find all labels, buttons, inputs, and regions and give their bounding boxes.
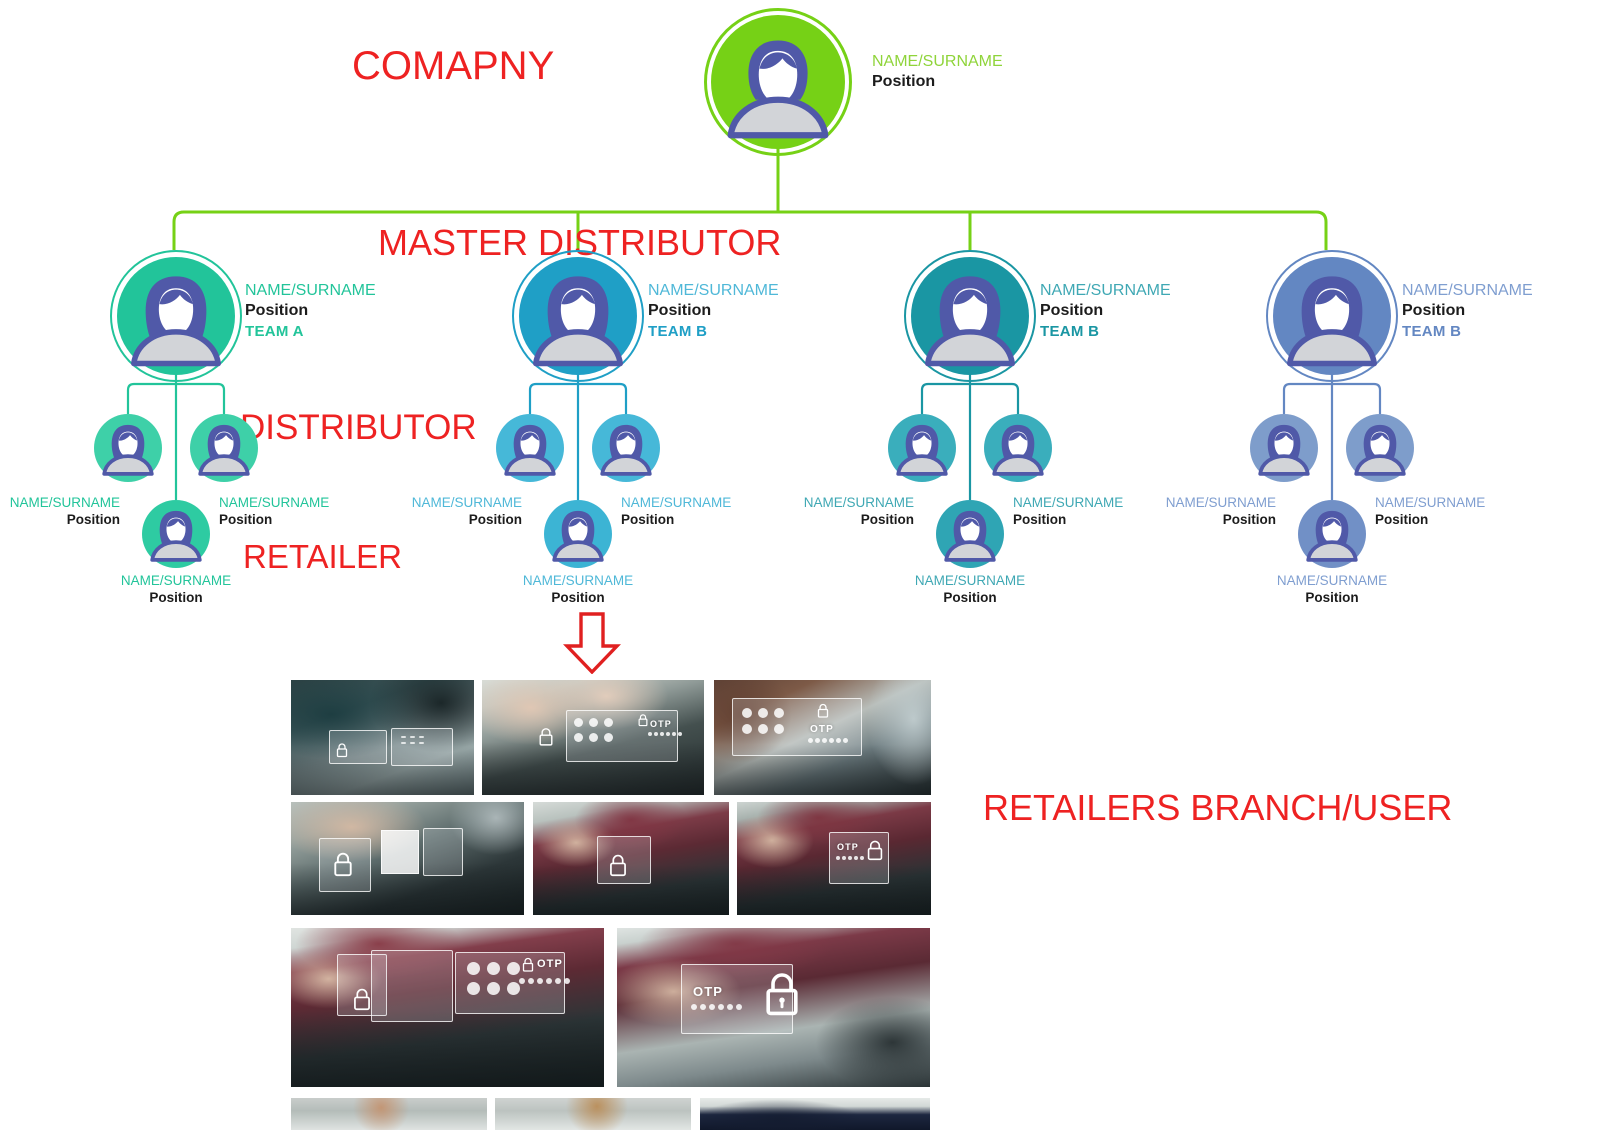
- photo-7-otp-text: OTP: [537, 958, 563, 970]
- lock-icon: [351, 986, 373, 1012]
- distributor-4-1-name: NAME/SURNAME: [1046, 494, 1276, 511]
- distributor-4-1-position: Position: [1046, 511, 1276, 528]
- person-icon: [544, 500, 612, 568]
- distributor-3-1-name: NAME/SURNAME: [684, 494, 914, 511]
- nametag-distributor-4-2: NAME/SURNAME Position: [1375, 494, 1600, 529]
- node-retailer-3[interactable]: [936, 500, 1004, 568]
- person-icon: [1266, 250, 1398, 382]
- nametag-master-1: NAME/SURNAME Position TEAM A: [245, 281, 376, 341]
- photo-5[interactable]: [533, 802, 729, 915]
- distributor-4-2-position: Position: [1375, 511, 1600, 528]
- photo-2[interactable]: OTP: [482, 680, 704, 795]
- distributor-2-1-name: NAME/SURNAME: [292, 494, 522, 511]
- avatar-distributor-4-2: [1346, 414, 1414, 482]
- label-retailer: RETAILER: [243, 538, 402, 576]
- node-master-distributor-3[interactable]: [904, 250, 1036, 382]
- distributor-3-1-position: Position: [684, 511, 914, 528]
- avatar-retailer-3: [936, 500, 1004, 568]
- master-4-position: Position: [1402, 301, 1533, 321]
- photo-8[interactable]: OTP: [617, 928, 930, 1087]
- person-icon: [984, 414, 1052, 482]
- avatar-company-root: [704, 8, 852, 156]
- avatar-master-1: [110, 250, 242, 382]
- master-3-name: NAME/SURNAME: [1040, 281, 1171, 301]
- photo-2-otp-text: OTP: [650, 719, 672, 729]
- nametag-retailer-2: NAME/SURNAME Position: [463, 572, 693, 607]
- nametag-distributor-2-1: NAME/SURNAME Position: [292, 494, 522, 529]
- photo-11[interactable]: [700, 1098, 930, 1130]
- nametag-master-4: NAME/SURNAME Position TEAM B: [1402, 281, 1533, 341]
- nametag-retailer-3: NAME/SURNAME Position: [855, 572, 1085, 607]
- node-distributor-2-1[interactable]: [496, 414, 564, 482]
- person-icon: [1346, 414, 1414, 482]
- master-1-team: TEAM A: [245, 322, 376, 341]
- retailer-4-name: NAME/SURNAME: [1217, 572, 1447, 589]
- avatar-retailer-1: [142, 500, 210, 568]
- node-retailer-4[interactable]: [1298, 500, 1366, 568]
- lock-icon: [761, 968, 803, 1018]
- lock-icon: [335, 742, 349, 758]
- distributor-2-1-position: Position: [292, 511, 522, 528]
- person-icon: [704, 8, 852, 156]
- photo-1[interactable]: [291, 680, 474, 795]
- label-retailers-branch-user: RETAILERS BRANCH/USER: [983, 787, 1452, 829]
- node-master-distributor-2[interactable]: [512, 250, 644, 382]
- retailer-3-name: NAME/SURNAME: [855, 572, 1085, 589]
- person-icon: [1298, 500, 1366, 568]
- avatar-retailer-4: [1298, 500, 1366, 568]
- nametag-company-root: NAME/SURNAME Position: [872, 52, 1003, 93]
- person-icon: [904, 250, 1036, 382]
- person-icon: [190, 414, 258, 482]
- avatar-distributor-4-1: [1250, 414, 1318, 482]
- master-2-name: NAME/SURNAME: [648, 281, 779, 301]
- node-master-distributor-4[interactable]: [1266, 250, 1398, 382]
- retailer-2-name: NAME/SURNAME: [463, 572, 693, 589]
- avatar-retailer-2: [544, 500, 612, 568]
- org-chart-diagram: COMAPNY MASTER DISTRIBUTOR DISTRIBUTOR R…: [0, 0, 1600, 1130]
- avatar-master-2: [512, 250, 644, 382]
- master-1-name: NAME/SURNAME: [245, 281, 376, 301]
- distributor-1-1-name: NAME/SURNAME: [0, 494, 120, 511]
- retailer-2-position: Position: [463, 589, 693, 606]
- person-icon: [110, 250, 242, 382]
- master-3-position: Position: [1040, 301, 1171, 321]
- person-icon: [592, 414, 660, 482]
- nametag-distributor-1-1: NAME/SURNAME Position: [0, 494, 120, 529]
- photo-4[interactable]: [291, 802, 524, 915]
- lock-icon: [865, 838, 885, 862]
- retailer-1-position: Position: [61, 589, 291, 606]
- avatar-distributor-3-2: [984, 414, 1052, 482]
- root-position: Position: [872, 72, 1003, 92]
- label-company: COMAPNY: [352, 44, 554, 89]
- lock-icon: [816, 702, 830, 719]
- lock-icon: [331, 850, 355, 878]
- label-distributor: DISTRIBUTOR: [240, 408, 477, 448]
- master-2-team: TEAM B: [648, 322, 779, 341]
- nametag-retailer-4: NAME/SURNAME Position: [1217, 572, 1447, 607]
- node-distributor-4-1[interactable]: [1250, 414, 1318, 482]
- photo-9[interactable]: [291, 1098, 487, 1130]
- node-distributor-1-1[interactable]: [94, 414, 162, 482]
- photo-3-otp-text: OTP: [810, 724, 834, 735]
- retailer-4-position: Position: [1217, 589, 1447, 606]
- node-company-root[interactable]: [704, 8, 852, 156]
- node-distributor-1-2[interactable]: [190, 414, 258, 482]
- nametag-distributor-4-1: NAME/SURNAME Position: [1046, 494, 1276, 529]
- master-4-name: NAME/SURNAME: [1402, 281, 1533, 301]
- nametag-master-2: NAME/SURNAME Position TEAM B: [648, 281, 779, 341]
- avatar-distributor-2-2: [592, 414, 660, 482]
- distributor-4-2-name: NAME/SURNAME: [1375, 494, 1600, 511]
- down-arrow-icon: [557, 612, 627, 674]
- photo-3[interactable]: OTP: [714, 680, 931, 795]
- lock-icon: [521, 956, 535, 973]
- node-distributor-3-1[interactable]: [888, 414, 956, 482]
- photo-8-otp-text: OTP: [693, 984, 723, 999]
- lock-icon: [607, 852, 629, 878]
- avatar-distributor-1-1: [94, 414, 162, 482]
- master-2-position: Position: [648, 301, 779, 321]
- avatar-master-4: [1266, 250, 1398, 382]
- node-distributor-3-2[interactable]: [984, 414, 1052, 482]
- node-distributor-2-2[interactable]: [592, 414, 660, 482]
- node-retailer-2[interactable]: [544, 500, 612, 568]
- retailer-3-position: Position: [855, 589, 1085, 606]
- master-4-team: TEAM B: [1402, 322, 1533, 341]
- node-retailer-1[interactable]: [142, 500, 210, 568]
- photo-7[interactable]: OTP: [291, 928, 604, 1087]
- avatar-master-3: [904, 250, 1036, 382]
- avatar-distributor-3-1: [888, 414, 956, 482]
- person-icon: [888, 414, 956, 482]
- person-icon: [94, 414, 162, 482]
- node-master-distributor-1[interactable]: [110, 250, 242, 382]
- nametag-master-3: NAME/SURNAME Position TEAM B: [1040, 281, 1171, 341]
- nametag-retailer-1: NAME/SURNAME Position: [61, 572, 291, 607]
- node-distributor-4-2[interactable]: [1346, 414, 1414, 482]
- person-icon: [496, 414, 564, 482]
- person-icon: [936, 500, 1004, 568]
- person-icon: [512, 250, 644, 382]
- photo-6-otp-text: OTP: [837, 842, 859, 852]
- distributor-1-1-position: Position: [0, 511, 120, 528]
- photo-10[interactable]: [495, 1098, 691, 1130]
- master-3-team: TEAM B: [1040, 322, 1171, 341]
- lock-icon: [537, 726, 555, 747]
- person-icon: [142, 500, 210, 568]
- avatar-distributor-2-1: [496, 414, 564, 482]
- root-name: NAME/SURNAME: [872, 52, 1003, 72]
- photo-6[interactable]: OTP: [737, 802, 931, 915]
- person-icon: [1250, 414, 1318, 482]
- avatar-distributor-1-2: [190, 414, 258, 482]
- nametag-distributor-3-1: NAME/SURNAME Position: [684, 494, 914, 529]
- lock-icon: [637, 713, 649, 727]
- master-1-position: Position: [245, 301, 376, 321]
- retailer-1-name: NAME/SURNAME: [61, 572, 291, 589]
